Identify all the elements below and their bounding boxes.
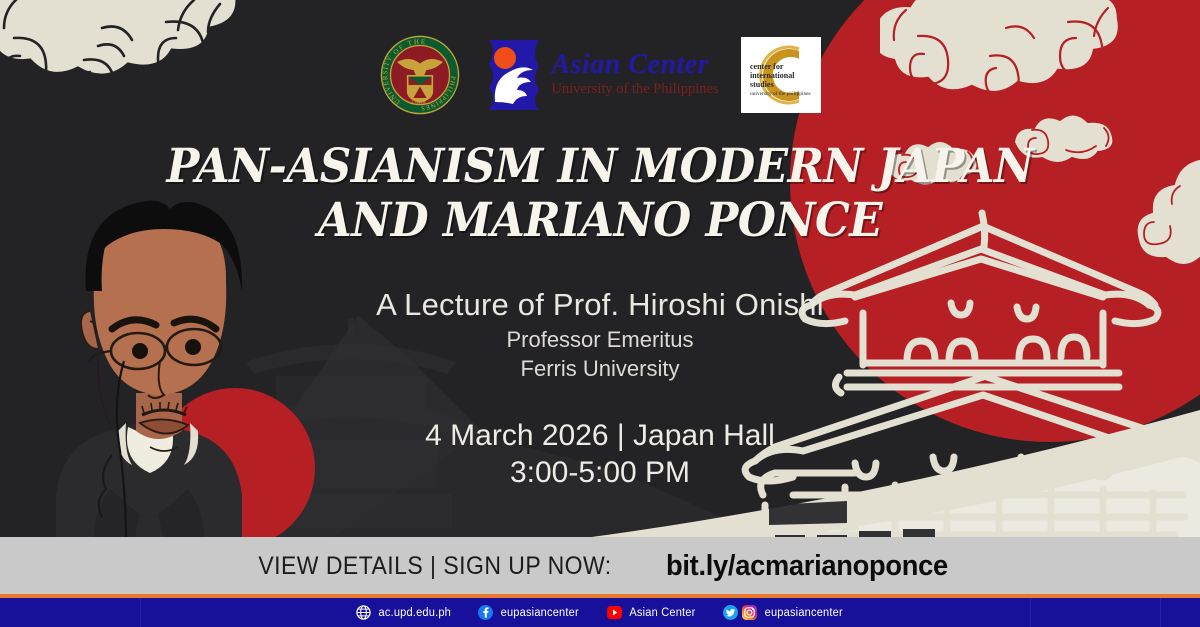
title-line-2: AND MARIANO PONCE <box>42 194 1158 248</box>
title-line-1: PAN-ASIANISM IN MODERN JAPAN <box>166 139 1033 194</box>
twitter-instagram-icons <box>723 605 757 620</box>
event-details-block: 4 March 2026 | Japan Hall 3:00-5:00 PM <box>0 417 1200 491</box>
footer-youtube-label: Asian Center <box>629 607 695 619</box>
asian-center-logo: Asian Center University of the Philippin… <box>483 37 718 113</box>
center-for-international-studies-logo: center for international studies univers… <box>741 37 821 113</box>
cis-line4: university of the philippines <box>750 90 811 97</box>
footer-website-label: ac.upd.edu.ph <box>378 607 450 619</box>
twitter-icon[interactable] <box>723 605 738 620</box>
asian-center-subtitle: University of the Philippines <box>551 79 718 99</box>
social-footer-bar: ac.upd.edu.ph eupasiancenter Asian Cente… <box>0 598 1200 627</box>
up-seal-icon: UNIVERSITY OF THE PHILIPPINES 1908 <box>379 34 461 116</box>
instagram-icon[interactable] <box>742 605 757 620</box>
cis-line3: studies <box>750 80 774 89</box>
footer-seam <box>1030 598 1031 627</box>
footer-seam <box>1160 598 1161 627</box>
asian-center-mark-icon <box>483 38 545 112</box>
footer-item-twitter-instagram[interactable]: eupasiancenter <box>723 605 844 620</box>
cis-c-mark-icon: center for international studies univers… <box>741 37 821 113</box>
speaker-block: A Lecture of Prof. Hiroshi Onishi Profes… <box>0 286 1200 383</box>
event-time: 3:00-5:00 PM <box>0 455 1200 490</box>
footer-facebook-label: eupasiancenter <box>501 607 579 619</box>
facebook-icon <box>478 605 493 620</box>
poster-title: PAN-ASIANISM IN MODERN JAPAN AND MARIANO… <box>42 140 1158 248</box>
event-poster: UNIVERSITY OF THE PHILIPPINES 1908 <box>0 0 1200 627</box>
footer-twitter-instagram-label: eupasiancenter <box>764 607 842 619</box>
signup-link[interactable]: bit.ly/acmarianoponce <box>666 550 948 583</box>
globe-icon <box>356 605 371 620</box>
speaker-rank: Professor Emeritus <box>0 325 1200 354</box>
asian-center-name: Asian Center <box>551 51 718 79</box>
event-date-venue: 4 March 2026 | Japan Hall <box>0 417 1200 455</box>
footer-seam <box>140 598 141 627</box>
cta-lead-text: VIEW DETAILS | SIGN UP NOW: <box>258 552 611 581</box>
speaker-affiliation: Ferris University <box>0 354 1200 383</box>
youtube-icon <box>607 605 622 620</box>
footer-item-youtube[interactable]: Asian Center <box>607 605 697 620</box>
speaker-lecture-line: A Lecture of Prof. Hiroshi Onishi <box>0 286 1200 325</box>
footer-item-website[interactable]: ac.upd.edu.ph <box>356 605 453 620</box>
logo-row: UNIVERSITY OF THE PHILIPPINES 1908 <box>0 34 1200 116</box>
cta-block: VIEW DETAILS | SIGN UP NOW: bit.ly/acmar… <box>0 543 1200 589</box>
cis-line1: center for <box>750 62 784 71</box>
cis-line2: international <box>750 71 795 80</box>
footer-item-facebook[interactable]: eupasiancenter <box>478 605 580 620</box>
